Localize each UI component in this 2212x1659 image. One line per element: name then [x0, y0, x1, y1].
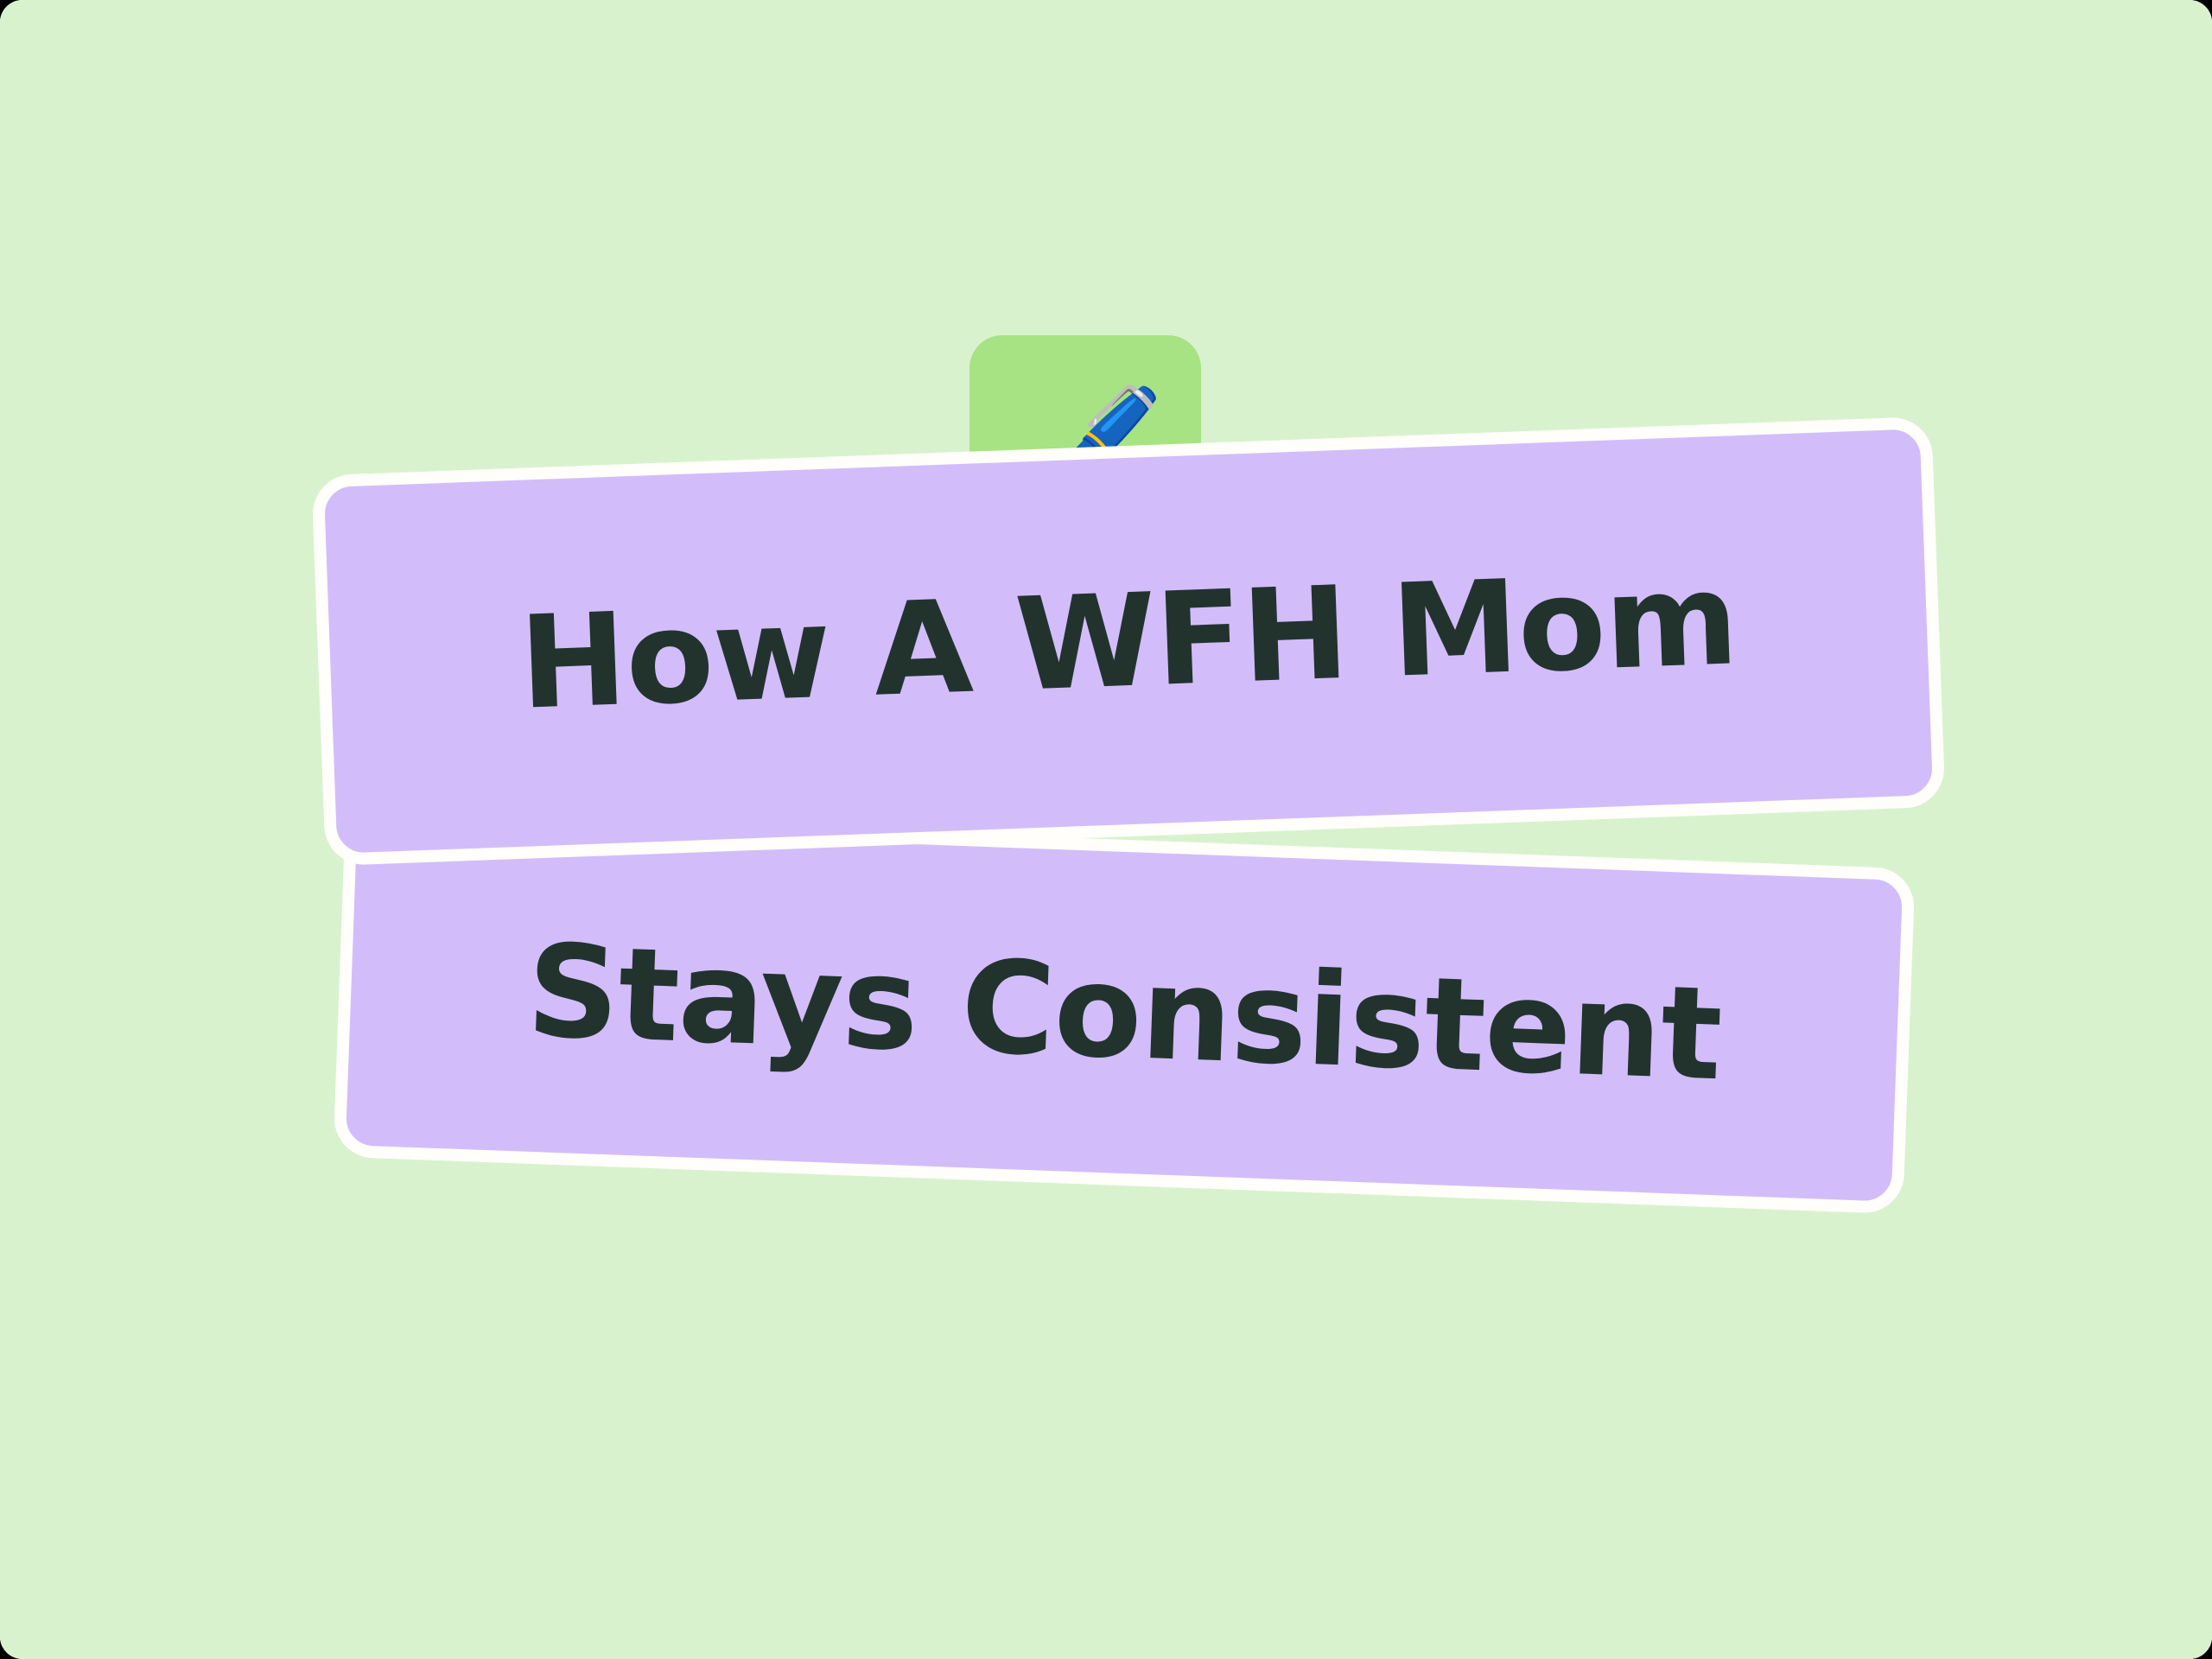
headline-banner-first-line: How A WFH Mom [311, 416, 1945, 866]
grid-tile [1960, 560, 2212, 1101]
headline-banner-second-line: Stays Consistent [333, 811, 1915, 1214]
headline-line-2: Stays Consistent [524, 917, 1724, 1109]
headline-line-1: How A WFH Mom [517, 544, 1739, 738]
grid-tile [0, 1113, 289, 1654]
grid-tile [1960, 7, 2212, 548]
grid-tile [301, 1113, 842, 1654]
grid-tile [854, 1113, 1395, 1654]
grid-tile [0, 7, 289, 548]
graphic-card: 🖊️ How A WFH Mom Stays Consistent [0, 0, 2212, 1659]
grid-tile [1960, 1113, 2212, 1654]
grid-tile [0, 560, 289, 1101]
